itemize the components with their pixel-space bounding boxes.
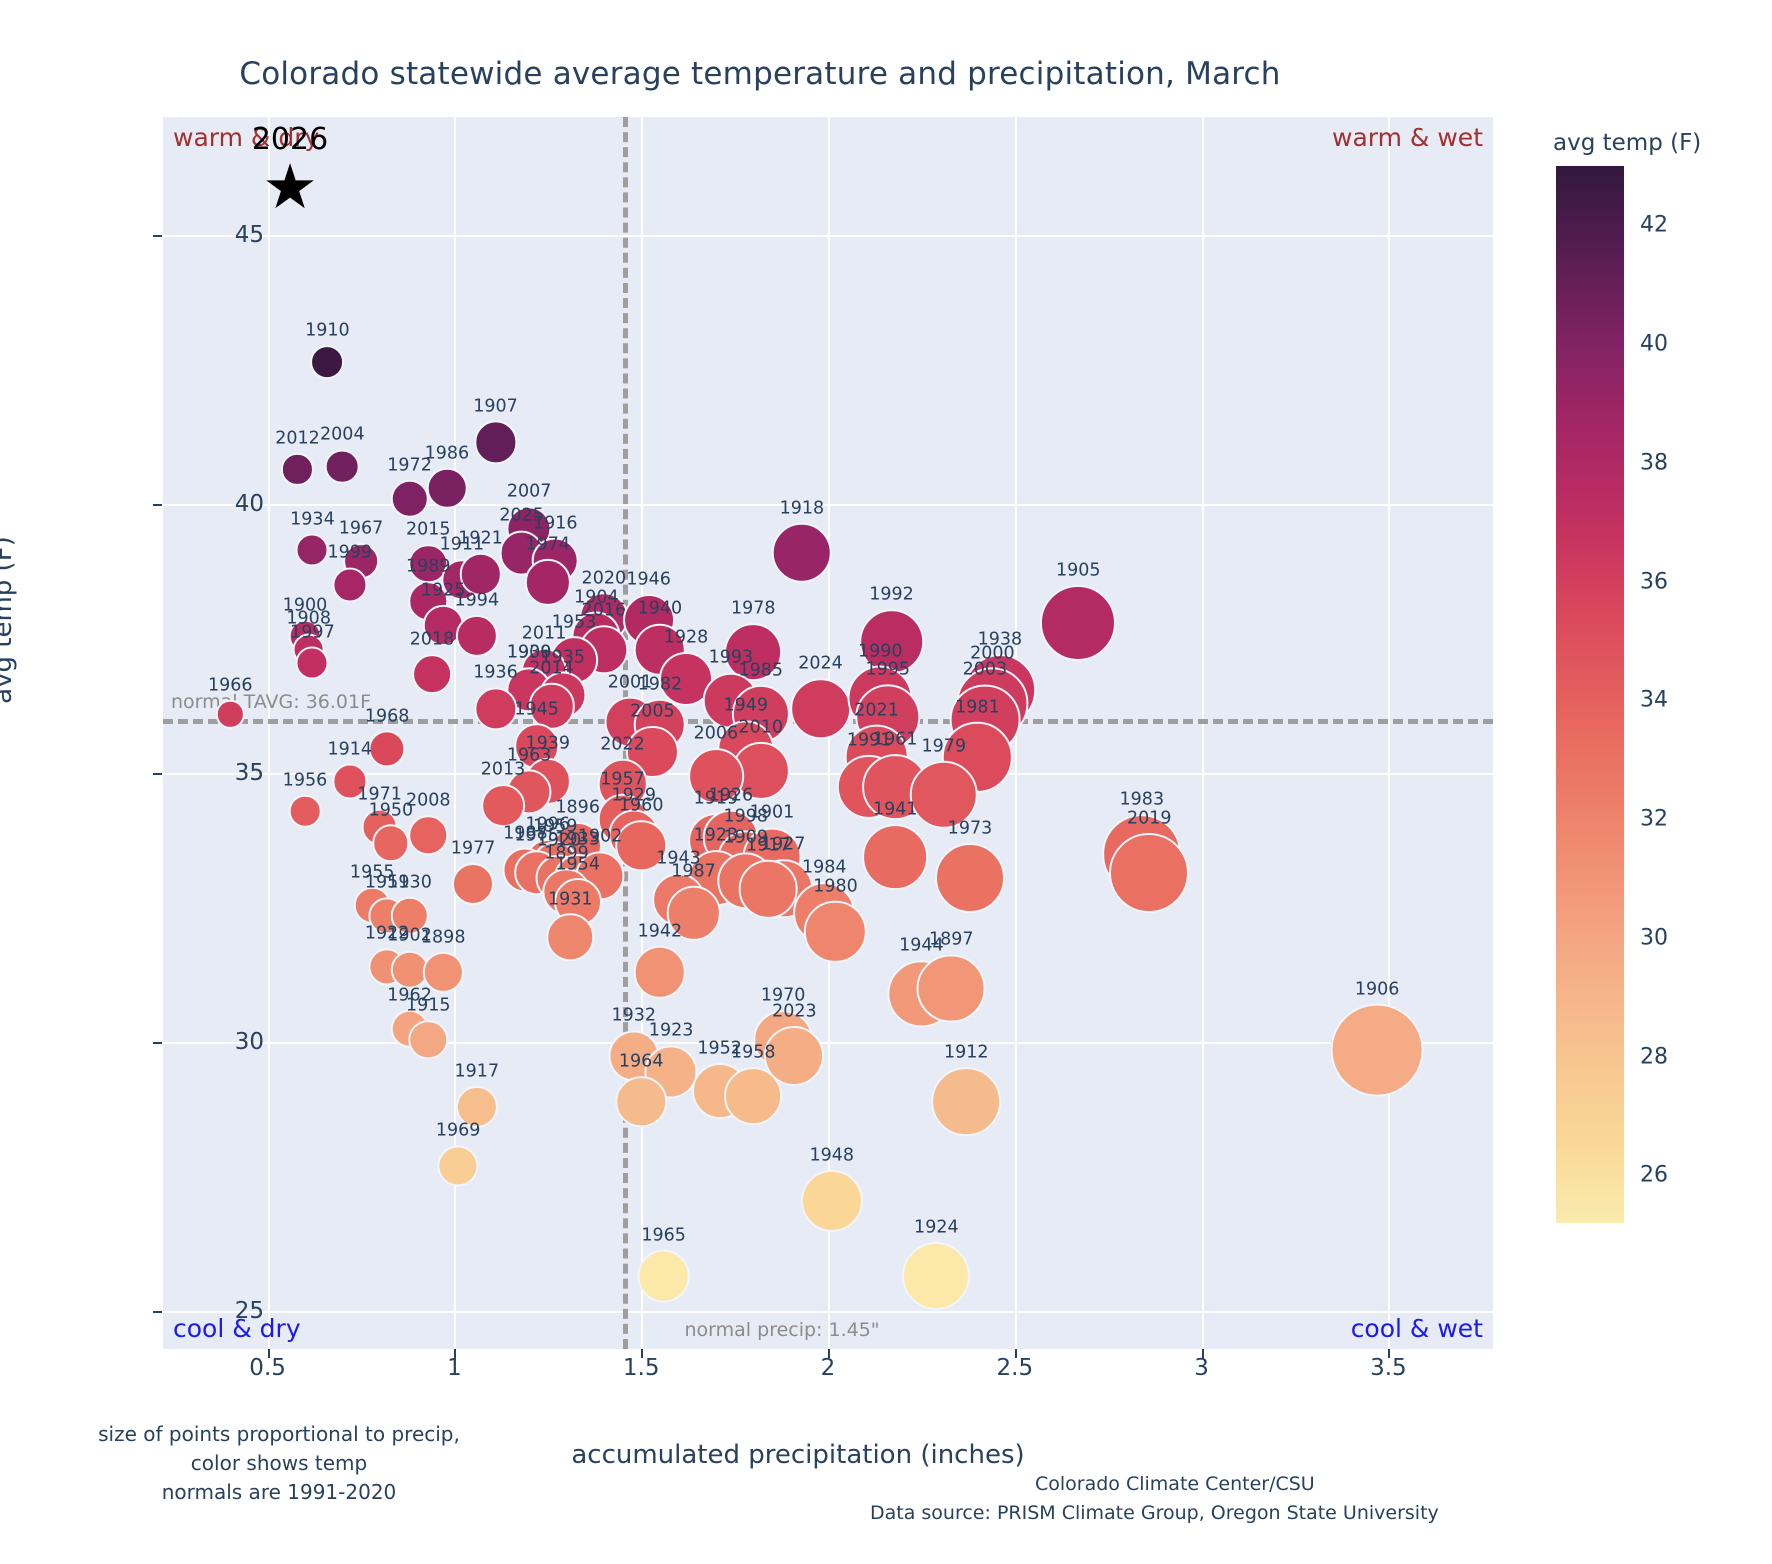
colorbar-tick-label: 30 xyxy=(1640,925,1668,950)
scatter-point-label: 1942 xyxy=(638,924,683,942)
scatter-point-label: 1995 xyxy=(865,662,910,680)
scatter-point[interactable] xyxy=(296,534,329,567)
scatter-point-label: 1954 xyxy=(555,856,600,874)
scatter-point-label: 1980 xyxy=(813,878,858,896)
scatter-point[interactable] xyxy=(216,700,244,728)
quadrant-label-warm-wet: warm & wet xyxy=(1332,123,1483,152)
scatter-point-label: 1901 xyxy=(750,805,795,823)
scatter-point-label: 1984 xyxy=(802,860,847,878)
scatter-point[interactable] xyxy=(296,647,329,680)
scatter-point[interactable] xyxy=(772,523,833,584)
colorbar-tick-label: 42 xyxy=(1640,213,1668,238)
scatter-point[interactable] xyxy=(332,567,367,602)
scatter-point-label: 1923 xyxy=(649,1023,694,1041)
scatter-point-label: 1910 xyxy=(305,322,350,340)
scatter-point-label: 1987 xyxy=(671,864,716,882)
scatter-point-label: 1949 xyxy=(724,698,769,716)
scatter-point-label: 1906 xyxy=(1355,981,1400,999)
scatter-point-label: 1986 xyxy=(425,445,470,463)
scatter-point[interactable] xyxy=(427,468,468,509)
credit-organization: Colorado Climate Center/CSU xyxy=(870,1470,1770,1499)
scatter-point-label: 1961 xyxy=(873,731,918,749)
y-axis-tick-mark xyxy=(153,773,162,775)
scatter-point[interactable] xyxy=(281,453,313,485)
scatter-point-label: 1992 xyxy=(869,586,914,604)
scatter-point[interactable] xyxy=(1331,1004,1424,1097)
scatter-point-label: 1964 xyxy=(619,1053,664,1071)
scatter-point[interactable] xyxy=(459,553,501,595)
quadrant-label-cool-wet: cool & wet xyxy=(1351,1314,1483,1343)
scatter-point-label: 1974 xyxy=(526,537,571,555)
scatter-point[interactable] xyxy=(412,654,452,694)
gridline-vertical xyxy=(268,117,270,1349)
scatter-point[interactable] xyxy=(372,825,409,862)
x-axis-tick-label: 3.5 xyxy=(1370,1355,1407,1381)
x-axis-tick-mark xyxy=(1015,1349,1017,1358)
gridline-horizontal xyxy=(163,1311,1493,1313)
scatter-point-label: 2018 xyxy=(410,631,455,649)
scatter-point[interactable] xyxy=(452,863,494,905)
scatter-point[interactable] xyxy=(790,678,852,740)
scatter-point-label: 1917 xyxy=(455,1063,500,1081)
colorbar-tick-label: 32 xyxy=(1640,807,1668,832)
x-axis-tick-mark xyxy=(454,1349,456,1358)
scatter-point[interactable] xyxy=(804,901,866,963)
colorbar-gradient xyxy=(1556,166,1624,1223)
scatter-point-label: 1897 xyxy=(929,932,974,950)
y-axis-tick-label: 30 xyxy=(235,1029,264,1055)
scatter-point-label: 1914 xyxy=(328,741,373,759)
x-axis-tick-mark xyxy=(1202,1349,1204,1358)
colorbar-tick-label: 36 xyxy=(1640,569,1668,594)
scatter-point[interactable] xyxy=(289,795,322,828)
scatter-point-label: 1921 xyxy=(458,531,503,549)
scatter-point[interactable] xyxy=(525,559,571,605)
scatter-point-label: 1934 xyxy=(290,511,335,529)
y-axis-tick-mark xyxy=(153,504,162,506)
scatter-point-label: 1917 xyxy=(746,837,791,855)
scatter-point[interactable] xyxy=(902,1242,970,1310)
scatter-point-label: 1926 xyxy=(709,787,754,805)
scatter-point-label: 1941 xyxy=(873,801,918,819)
scatter-point-label: 1994 xyxy=(455,593,500,611)
scatter-point[interactable] xyxy=(862,824,928,890)
scatter-point[interactable] xyxy=(408,815,448,855)
scatter-point-label: 1981 xyxy=(955,700,1000,718)
colorbar-tick-label: 40 xyxy=(1640,332,1668,357)
scatter-point-label: 1960 xyxy=(619,798,664,816)
scatter-point[interactable] xyxy=(310,345,344,379)
scatter-point[interactable] xyxy=(1109,833,1189,913)
highlight-year-label: 2026 xyxy=(252,125,328,155)
scatter-point-label: 2004 xyxy=(320,427,365,445)
colorbar-tick-label: 38 xyxy=(1640,450,1668,475)
scatter-point[interactable] xyxy=(931,1067,1001,1137)
scatter-point-label: 1973 xyxy=(948,821,993,839)
footnote-line-2: color shows temp xyxy=(64,1449,494,1478)
scatter-point-label: 2006 xyxy=(694,726,739,744)
colorbar xyxy=(1556,166,1624,1223)
scatter-point[interactable] xyxy=(634,946,687,999)
credits: Colorado Climate Center/CSU Data source:… xyxy=(870,1470,1770,1527)
scatter-point-label: 1967 xyxy=(339,520,384,538)
y-axis-tick-mark xyxy=(153,1042,162,1044)
scatter-point[interactable] xyxy=(369,731,406,768)
y-axis-tick-mark xyxy=(153,1311,162,1313)
scatter-point[interactable] xyxy=(546,914,594,962)
scatter-point-label: 1948 xyxy=(809,1147,854,1165)
scatter-point[interactable] xyxy=(438,1145,479,1186)
scatter-point-label: 1958 xyxy=(731,1045,776,1063)
scatter-point-label: 1985 xyxy=(738,663,783,681)
scatter-point[interactable] xyxy=(1040,585,1116,661)
credit-data-source: Data source: PRISM Climate Group, Oregon… xyxy=(870,1499,1770,1528)
scatter-point-label: 1945 xyxy=(514,701,559,719)
scatter-point-label: 1946 xyxy=(626,572,671,590)
scatter-point-label: 2014 xyxy=(529,660,574,678)
y-axis-tick-label: 35 xyxy=(235,760,264,786)
scatter-point-label: 1989 xyxy=(406,559,451,577)
x-axis-tick-mark xyxy=(1388,1349,1390,1358)
scatter-point[interactable] xyxy=(474,421,517,464)
scatter-point[interactable] xyxy=(724,1067,782,1125)
normal-precip-label: normal precip: 1.45" xyxy=(685,1319,880,1341)
x-axis-tick-mark xyxy=(828,1349,830,1358)
gridline-horizontal xyxy=(163,504,1493,506)
scatter-point-label: 1931 xyxy=(548,891,593,909)
colorbar-title: avg temp (F) xyxy=(1553,130,1701,156)
scatter-point-label: 1978 xyxy=(731,601,776,619)
normal-tavg-label: normal TAVG: 36.01F xyxy=(171,691,371,713)
scatter-point[interactable] xyxy=(456,615,498,657)
colorbar-tick-label: 34 xyxy=(1640,688,1668,713)
scatter-point-label: 1930 xyxy=(387,874,432,892)
scatter-point-label: 2007 xyxy=(507,483,552,501)
scatter-point-label: 1983 xyxy=(1120,792,1165,810)
x-axis-tick-label: 3 xyxy=(1194,1355,1209,1381)
footnote-size-color: size of points proportional to precip, c… xyxy=(64,1420,494,1507)
x-axis-tick-label: 1 xyxy=(447,1355,462,1381)
y-axis-tick-mark xyxy=(153,235,162,237)
scatter-point[interactable] xyxy=(801,1170,863,1232)
scatter-point[interactable] xyxy=(615,1076,667,1128)
scatter-point-label: 1915 xyxy=(406,997,451,1015)
scatter-point-label: 2021 xyxy=(854,702,899,720)
colorbar-tick-label: 28 xyxy=(1640,1044,1668,1069)
scatter-point-label: 2010 xyxy=(738,719,783,737)
x-axis-tick-label: 2.5 xyxy=(997,1355,1034,1381)
scatter-point-label: 1918 xyxy=(780,500,825,518)
scatter-point-label: 1916 xyxy=(533,515,578,533)
scatter-point-label: 2008 xyxy=(406,793,451,811)
scatter-point-label: 2012 xyxy=(275,431,320,449)
scatter-point-label: 2020 xyxy=(582,570,627,588)
plot-area: normal TAVG: 36.01Fnormal precip: 1.45" … xyxy=(163,117,1493,1349)
scatter-point[interactable] xyxy=(481,784,525,828)
scatter-point-label: 1956 xyxy=(283,772,328,790)
colorbar-tick-label: 26 xyxy=(1640,1163,1668,1188)
scatter-point-label: 1966 xyxy=(208,677,253,695)
y-axis-tick-label: 25 xyxy=(235,1298,264,1324)
x-axis-tick-mark xyxy=(641,1349,643,1358)
footnote-line-3: normals are 1991-2020 xyxy=(64,1478,494,1507)
scatter-point-label: 1928 xyxy=(664,630,709,648)
scatter-point-label: 2003 xyxy=(963,662,1008,680)
scatter-point-label: 1999 xyxy=(328,545,373,563)
y-axis-tick-label: 45 xyxy=(235,222,264,248)
x-axis-tick-label: 0.5 xyxy=(249,1355,286,1381)
scatter-point-label: 2024 xyxy=(798,656,843,674)
scatter-point-label: 1969 xyxy=(436,1123,481,1141)
scatter-point-label: 1979 xyxy=(922,738,967,756)
scatter-point-label: 1990 xyxy=(858,643,903,661)
scatter-point-label: 1965 xyxy=(641,1227,686,1245)
scatter-point-label: 2011 xyxy=(522,626,567,644)
y-axis-title: avg temp (F) xyxy=(0,536,18,704)
x-axis-tick-label: 2 xyxy=(821,1355,836,1381)
highlight-star-icon: ★ xyxy=(262,156,318,218)
scatter-point[interactable] xyxy=(408,1020,448,1060)
x-axis-title: accumulated precipitation (inches) xyxy=(508,1440,1088,1470)
x-axis-tick-label: 1.5 xyxy=(623,1355,660,1381)
scatter-point[interactable] xyxy=(390,480,428,518)
scatter-point-label: 1997 xyxy=(290,624,335,642)
scatter-point-label: 1905 xyxy=(1056,562,1101,580)
scatter-point[interactable] xyxy=(935,843,1005,913)
scatter-point[interactable] xyxy=(325,449,360,484)
scatter-point-label: 1940 xyxy=(638,601,683,619)
scatter-point[interactable] xyxy=(739,860,798,919)
scatter-point-label: 1982 xyxy=(638,676,683,694)
scatter-point-label: 1936 xyxy=(473,665,518,683)
footnote-line-1: size of points proportional to precip, xyxy=(64,1420,494,1449)
scatter-point[interactable] xyxy=(637,1250,690,1303)
scatter-point-label: 2005 xyxy=(630,703,675,721)
x-axis-tick-mark xyxy=(268,1349,270,1358)
scatter-point-label: 1898 xyxy=(421,930,466,948)
gridline-horizontal xyxy=(163,235,1493,237)
scatter-point-label: 1977 xyxy=(451,840,496,858)
gridline-vertical xyxy=(1388,117,1390,1349)
y-axis-tick-label: 40 xyxy=(235,491,264,517)
scatter-point-label: 1912 xyxy=(944,1044,989,1062)
scatter-point-label: 1924 xyxy=(914,1220,959,1238)
gridline-horizontal xyxy=(163,1042,1493,1044)
scatter-point-label: 2019 xyxy=(1127,810,1172,828)
scatter-point-label: 2022 xyxy=(600,736,645,754)
gridline-vertical xyxy=(1202,117,1204,1349)
scatter-point-label: 1907 xyxy=(473,398,518,416)
scatter-point[interactable] xyxy=(917,954,986,1023)
scatter-point-label: 1968 xyxy=(365,708,410,726)
scatter-point-label: 2023 xyxy=(772,1003,817,1021)
chart-title: Colorado statewide average temperature a… xyxy=(0,56,1520,92)
scatter-point-label: 2013 xyxy=(481,761,526,779)
